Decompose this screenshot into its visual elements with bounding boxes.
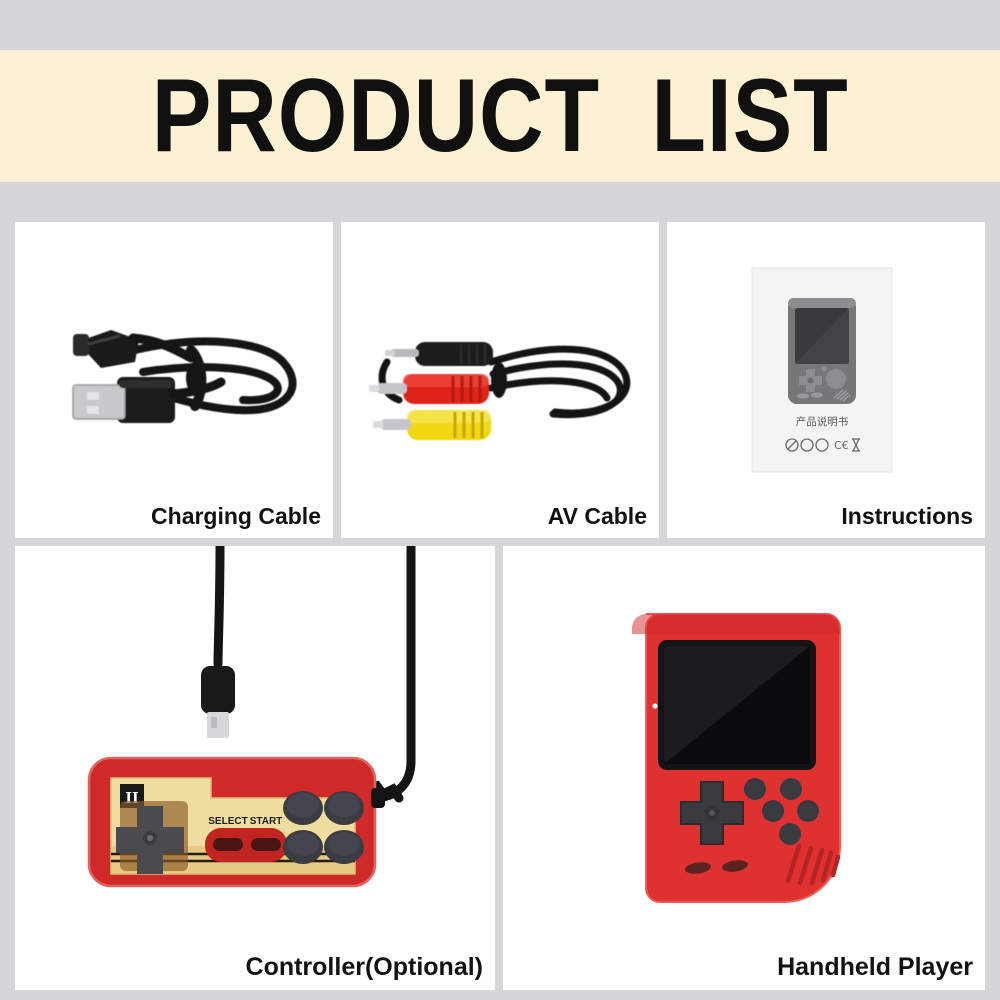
select-button-label: SELECT — [208, 816, 247, 827]
product-card-charging-cable[interactable]: Charging Cable — [15, 222, 333, 538]
start-button-label: START — [250, 816, 283, 827]
page-header: PRODUCT LIST — [0, 50, 1000, 182]
av-cable-icon — [341, 222, 659, 538]
product-grid: Charging Cable — [15, 222, 985, 990]
product-label-controller: Controller(Optional) — [246, 953, 483, 982]
ce-mark-icon: C€ — [834, 439, 849, 452]
handheld-console-icon — [503, 546, 985, 990]
product-card-instructions[interactable]: 产品说明书 C€ Instructions — [667, 222, 985, 538]
product-label-handheld-player: Handheld Player — [777, 953, 973, 982]
charging-cable-icon — [15, 222, 333, 538]
product-label-av-cable: AV Cable — [548, 503, 647, 530]
product-card-handheld-player[interactable]: Handheld Player — [503, 546, 985, 990]
product-card-av-cable[interactable]: AV Cable — [341, 222, 659, 538]
instruction-manual-icon: 产品说明书 C€ — [667, 222, 985, 538]
page-title: PRODUCT LIST — [152, 64, 849, 168]
product-label-instructions: Instructions — [841, 503, 973, 530]
gamepad-controller-icon: II SELECT START — [15, 546, 495, 990]
product-card-controller[interactable]: II SELECT START — [15, 546, 495, 990]
booklet-caption-cn: 产品说明书 — [796, 415, 849, 428]
product-label-charging-cable: Charging Cable — [151, 503, 321, 530]
product-list-page: PRODUCT LIST — [0, 0, 1000, 1000]
